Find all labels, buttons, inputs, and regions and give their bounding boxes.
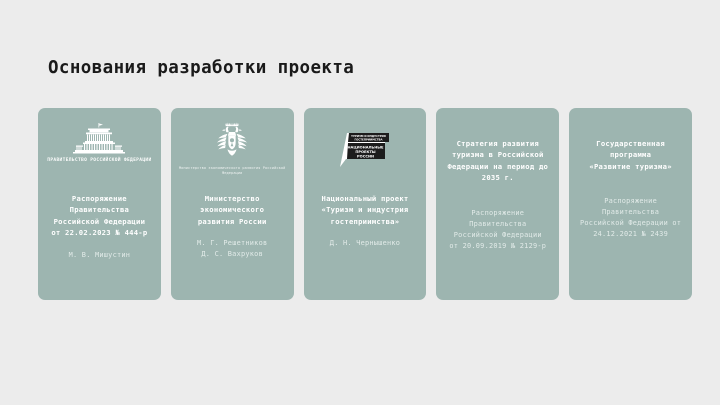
card-subtitle: Распоряжение Правительства Российской Фе… [580, 196, 681, 240]
card-title: Национальный проект «Туризм и индустрия … [322, 193, 409, 227]
card-strategy-2035[interactable]: Стратегия развития туризма в Российской … [436, 108, 559, 300]
card-title: Распоряжение Правительства Российской Фе… [51, 193, 147, 239]
svg-text:ТУРИЗМ И ИНДУСТРИЯ: ТУРИЗМ И ИНДУСТРИЯ [351, 134, 386, 138]
card-title: Министерство экономического развития Рос… [198, 193, 267, 227]
card-subtitle: Распоряжение Правительства Российской Фе… [449, 208, 546, 252]
card-government-rf[interactable]: ПРАВИТЕЛЬСТВО РОССИЙСКОЙ ФЕДЕРАЦИИ Распо… [38, 108, 161, 300]
card-title: Стратегия развития туризма в Российской … [447, 138, 548, 184]
card-title: Государственная программа «Развитие тури… [589, 138, 671, 172]
svg-text:ПРОЕКТЫ: ПРОЕКТЫ [355, 150, 376, 154]
cards-row: ПРАВИТЕЛЬСТВО РОССИЙСКОЙ ФЕДЕРАЦИИ Распо… [38, 108, 692, 300]
card-subtitle: М. Г. Решетников Д. С. Вахруков [197, 238, 267, 260]
emblem-national-projects: ТУРИЗМ И ИНДУСТРИЯ ГОСТЕПРИИМСТВА НАЦИОН… [337, 118, 393, 184]
page-title: Основания разработки проекта [48, 58, 354, 78]
emblem-double-headed-eagle: Министерство экономического развития Рос… [178, 118, 287, 184]
card-subtitle: М. В. Мишустин [69, 250, 131, 261]
double-headed-eagle-emblem-icon [209, 122, 255, 164]
national-projects-flag-logo-icon: ТУРИЗМ И ИНДУСТРИЯ ГОСТЕПРИИМСТВА НАЦИОН… [337, 128, 393, 168]
emblem-caption-ministry: Министерство экономического развития Рос… [178, 166, 287, 175]
card-state-program[interactable]: Государственная программа «Развитие тури… [569, 108, 692, 300]
government-building-emblem-icon [71, 122, 127, 156]
card-subtitle: Д. Н. Чернышенко [330, 238, 400, 249]
slide-canvas: Основания разработки проекта [0, 0, 720, 405]
svg-text:РОССИИ: РОССИИ [357, 155, 374, 159]
card-national-project[interactable]: ТУРИЗМ И ИНДУСТРИЯ ГОСТЕПРИИМСТВА НАЦИОН… [304, 108, 427, 300]
svg-text:ГОСТЕПРИИМСТВА: ГОСТЕПРИИМСТВА [355, 138, 383, 142]
emblem-government-building: ПРАВИТЕЛЬСТВО РОССИЙСКОЙ ФЕДЕРАЦИИ [47, 118, 151, 184]
svg-text:НАЦИОНАЛЬНЫЕ: НАЦИОНАЛЬНЫЕ [348, 146, 384, 150]
card-mineconomrazvitiya[interactable]: Министерство экономического развития Рос… [171, 108, 294, 300]
emblem-caption-government: ПРАВИТЕЛЬСТВО РОССИЙСКОЙ ФЕДЕРАЦИИ [47, 158, 151, 164]
